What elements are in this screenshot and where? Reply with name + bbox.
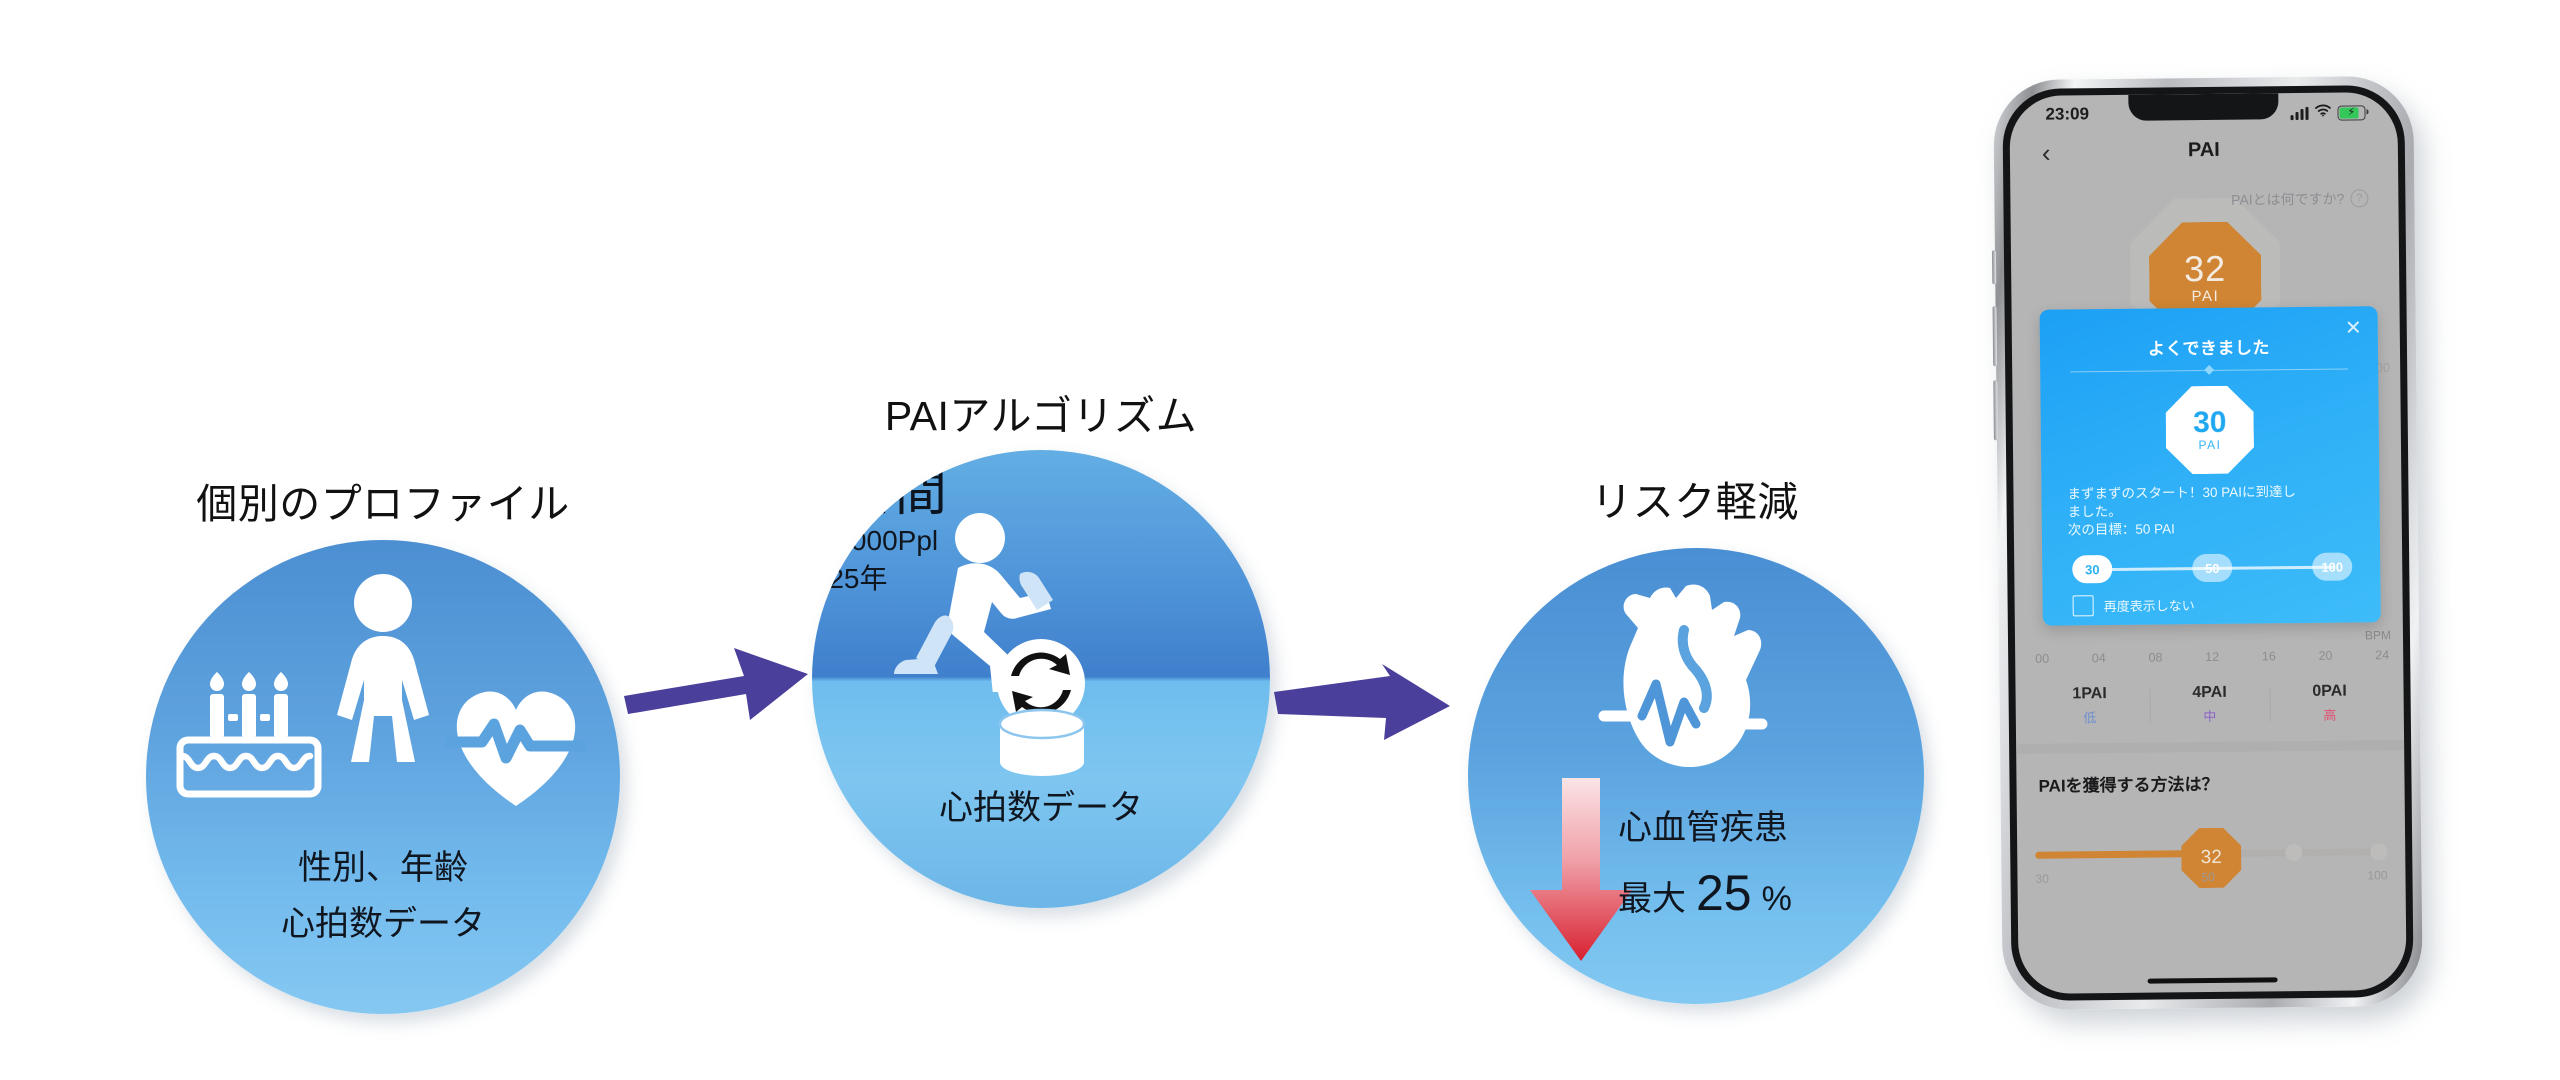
home-indicator[interactable] (2148, 977, 2278, 983)
popup-goal-track[interactable]: 30 50 100 (2072, 552, 2352, 585)
anatomical-heart-icon (1584, 576, 1774, 781)
legend-value: 0PAI (2269, 682, 2389, 701)
slider-dot-100[interactable] (2370, 843, 2387, 860)
x-tick: 20 (2318, 649, 2332, 663)
slider-tick: 50 (2201, 870, 2215, 884)
popup-title: よくできました (2040, 332, 2378, 361)
section-separator (2016, 740, 2404, 754)
legend-key: 低 (2030, 707, 2150, 727)
achievement-popup: ✕ よくできました 30 PAI まずまずのスタート！30 PAIに到達し まし… (2040, 306, 2381, 626)
x-tick: 12 (2205, 650, 2219, 664)
step2-heading: PAIアルゴリズム (885, 382, 1197, 442)
intensity-legend: 1PAI 低 4PAI 中 0PAI 高 (2029, 682, 2389, 727)
phone-volume-up-button[interactable] (1993, 306, 1998, 366)
x-tick: 04 (2092, 651, 2106, 665)
slider-tick: 100 (2367, 868, 2387, 882)
nav-title: PAI (2010, 137, 2398, 164)
step1-heading: 個別のプロファイル (196, 470, 570, 530)
phone-volume-down-button[interactable] (1993, 380, 1998, 440)
cellular-bars-icon (2290, 106, 2308, 119)
x-tick: 08 (2148, 650, 2162, 664)
step3-heading: リスク軽減 (1591, 468, 1799, 528)
legend-key: 中 (2150, 705, 2270, 725)
slider-remaining-track (2218, 848, 2387, 857)
pai-progress-slider[interactable]: 32 30 50 100 (2035, 832, 2387, 876)
pai-score-value: 32 (2184, 251, 2226, 285)
popup-score-octagon: 30 PAI (2165, 386, 2254, 475)
nav-bar: ‹ PAI (2010, 128, 2398, 176)
pai-score-unit: PAI (2192, 287, 2220, 304)
legend-value: 4PAI (2149, 683, 2269, 702)
dont-show-again-label: 再度表示しない (2104, 595, 2195, 615)
question-circle-icon: ? (2350, 189, 2368, 207)
popup-message-line-3: 次の目標：50 PAI (2068, 518, 2360, 539)
popup-score-unit: PAI (2198, 437, 2221, 451)
step3-circle: 心血管疾患 最大 25 % (1468, 548, 1924, 1004)
phone-bezel: 23:09 ⚡ (2002, 85, 2414, 1001)
legend-value: 1PAI (2029, 685, 2149, 704)
legend-key: 高 (2270, 704, 2390, 724)
dont-show-again-row[interactable]: 再度表示しない (2073, 594, 2195, 616)
status-clock: 23:09 (2045, 104, 2089, 124)
track-knob-30[interactable]: 30 (2072, 555, 2112, 583)
chart-unit-label: BPM (2365, 628, 2391, 642)
wifi-icon (2314, 104, 2331, 122)
flow-arrow-1 (622, 640, 812, 735)
legend-item-low: 1PAI 低 (2029, 685, 2149, 727)
female-figure-icon (324, 574, 442, 785)
track-knob-100[interactable]: 100 (2312, 552, 2352, 580)
how-to-earn-pai-title: PAIを獲得する方法は？ (2038, 770, 2218, 797)
step2-heartrate-label: 心拍数データ (812, 780, 1270, 829)
slider-dot-50[interactable] (2285, 844, 2302, 861)
step3-max-value: 25 (1696, 864, 1752, 922)
chart-x-axis: 00 04 08 12 16 20 24 (2035, 648, 2389, 666)
x-tick: 00 (2035, 652, 2049, 666)
dont-show-again-checkbox[interactable] (2073, 595, 2094, 616)
slider-ticks: 30 50 100 (2035, 868, 2387, 886)
phone-mute-switch[interactable] (1992, 250, 1996, 284)
infographic-canvas: 個別のプロファイル (0, 0, 2560, 1080)
flow-arrow-2 (1272, 662, 1452, 753)
what-is-pai-label: PAIとは何ですか? (2231, 189, 2345, 210)
popup-message: まずまずのスタート！30 PAIに到達し ました。 次の目標：50 PAI (2067, 482, 2360, 539)
step3-reduction: 最大 25 % (1618, 864, 1792, 922)
x-tick: 16 (2262, 649, 2276, 663)
database-icon (998, 708, 1086, 785)
step1-label-1: 性別、年齢 (146, 840, 620, 889)
step1-circle: 性別、年齢 心拍数データ (146, 540, 620, 1014)
phone-mockup: 23:09 ⚡ (1993, 76, 2423, 1010)
step1-label-2: 心拍数データ (146, 896, 620, 945)
step3-disease-label: 心血管疾患 (1618, 800, 1788, 849)
step3-max-prefix: 最大 (1618, 871, 1686, 920)
birthday-cake-icon (174, 658, 324, 813)
phone-screen: 23:09 ⚡ (2009, 92, 2406, 994)
phone-notch (2128, 93, 2278, 121)
legend-item-mid: 4PAI 中 (2149, 683, 2269, 725)
popup-score-value: 30 (2193, 408, 2227, 436)
legend-item-high: 0PAI 高 (2269, 682, 2389, 724)
heartbeat-icon (446, 680, 586, 815)
track-knob-50[interactable]: 50 (2192, 554, 2232, 582)
slider-tick: 30 (2035, 872, 2049, 886)
step2-circle: 7日間 45,000Ppl +25年 心拍数データ (812, 450, 1270, 908)
x-tick: 24 (2375, 648, 2389, 662)
step3-max-unit: % (1762, 880, 1792, 919)
battery-charging-icon: ⚡ (2337, 105, 2365, 120)
popup-diamond-icon (2204, 365, 2214, 375)
status-indicators: ⚡ (2290, 103, 2365, 122)
what-is-pai-link[interactable]: PAIとは何ですか? ? (2231, 188, 2369, 209)
